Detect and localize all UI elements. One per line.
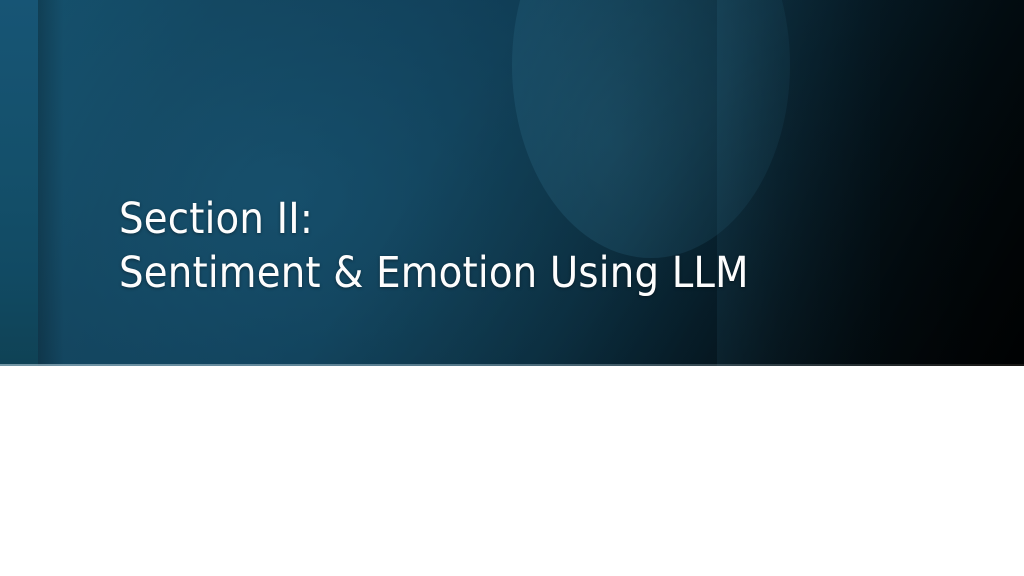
left-strip-shadow [38,0,64,366]
slide-title: Section II: Sentiment & Emotion Using LL… [119,192,969,300]
slide-title-line-1: Section II: [119,192,969,246]
decorative-dark-diagonal [0,0,1024,366]
slide-banner: Section II: Sentiment & Emotion Using LL… [0,0,1024,366]
slide-canvas: Section II: Sentiment & Emotion Using LL… [0,0,1024,576]
slide-body-area [0,366,1024,576]
slide-title-line-2: Sentiment & Emotion Using LLM [119,246,969,300]
left-accent-strip [0,0,38,366]
